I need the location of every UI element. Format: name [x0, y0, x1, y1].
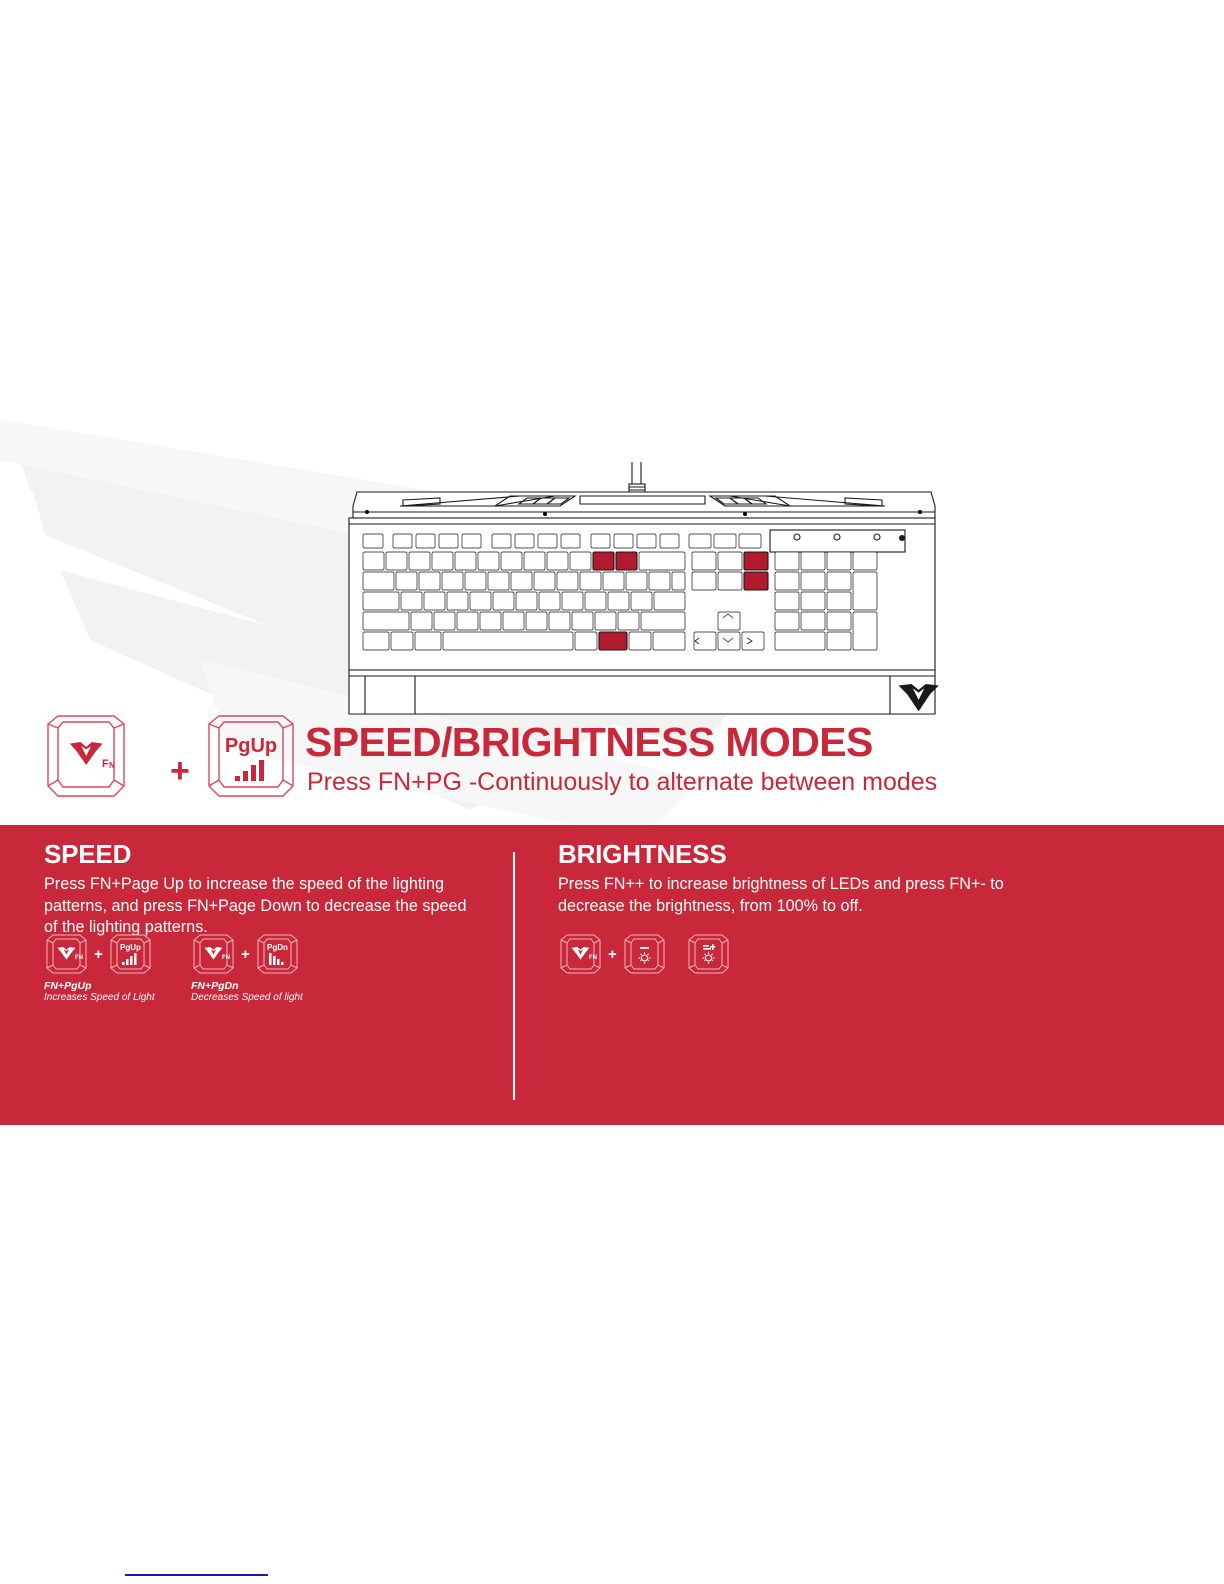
pgup-key-small[interactable]: PgUp [108, 933, 153, 975]
speed-combo-pgdn-caption: FN+PgDn Decreases Speed of light [191, 980, 303, 1004]
svg-text:N: N [109, 761, 115, 770]
svg-text:F: F [102, 758, 109, 770]
plus-separator: + [170, 754, 190, 788]
svg-text:PgDn: PgDn [267, 943, 288, 952]
svg-text:PgUp: PgUp [225, 735, 277, 757]
speed-column: SPEED Press FN+Page Up to increase the s… [44, 839, 484, 939]
brightness-key-combo: FN + + [558, 933, 731, 975]
plus-separator: + [94, 946, 103, 963]
sun-icon [638, 952, 650, 964]
speed-combo-pgdn: FN + PgDn [191, 933, 303, 1004]
signal-bars-ascending-icon [235, 760, 264, 781]
plus-separator: + [241, 946, 250, 963]
svg-text:PgUp: PgUp [120, 943, 141, 952]
pgup-key-large[interactable]: PgUp [205, 714, 297, 805]
speed-body: Press FN+Page Up to increase the speed o… [44, 874, 484, 939]
bottom-blue-rule [125, 1574, 268, 1576]
brightness-column: BRIGHTNESS Press FN++ to increase bright… [558, 839, 1008, 917]
column-divider [513, 852, 515, 1100]
info-band: SPEED Press FN+Page Up to increase the s… [0, 825, 1224, 1125]
fn-key-large[interactable]: F N [44, 714, 128, 805]
sun-icon [702, 952, 714, 964]
brightness-down-key[interactable] [622, 933, 667, 975]
signal-bars-ascending-icon [122, 953, 137, 965]
svg-text:FN: FN [222, 955, 230, 961]
page-root: .ln{fill:#ffffff;stroke:#1a1a1a;stroke-w… [0, 0, 1224, 1584]
brightness-body: Press FN++ to increase brightness of LED… [558, 874, 1008, 917]
signal-bars-descending-icon [269, 953, 284, 965]
svg-text:FN: FN [589, 955, 597, 961]
brightness-heading: BRIGHTNESS [558, 839, 1008, 870]
fn-key-small[interactable]: FN [44, 933, 89, 975]
speed-combo-pgup-caption: FN+PgUp Increases Speed of Light [44, 980, 155, 1004]
fn-key-small[interactable]: FN [558, 933, 603, 975]
brightness-up-key[interactable] [686, 933, 731, 975]
speed-heading: SPEED [44, 839, 484, 870]
svg-text:FN: FN [75, 955, 83, 961]
plus-separator: + [608, 946, 617, 963]
keyboard-illustration: .ln{fill:#ffffff;stroke:#1a1a1a;stroke-w… [345, 462, 940, 724]
fn-key-small[interactable]: FN [191, 933, 236, 975]
page-title: SPEED/BRIGHTNESS MODES [305, 722, 873, 763]
speed-combo-pgup: FN + PgUp [44, 933, 155, 1004]
page-subtitle: Press FN+PG -Continuously to alternate b… [307, 770, 937, 795]
pgdn-key-small[interactable]: PgDn [255, 933, 300, 975]
